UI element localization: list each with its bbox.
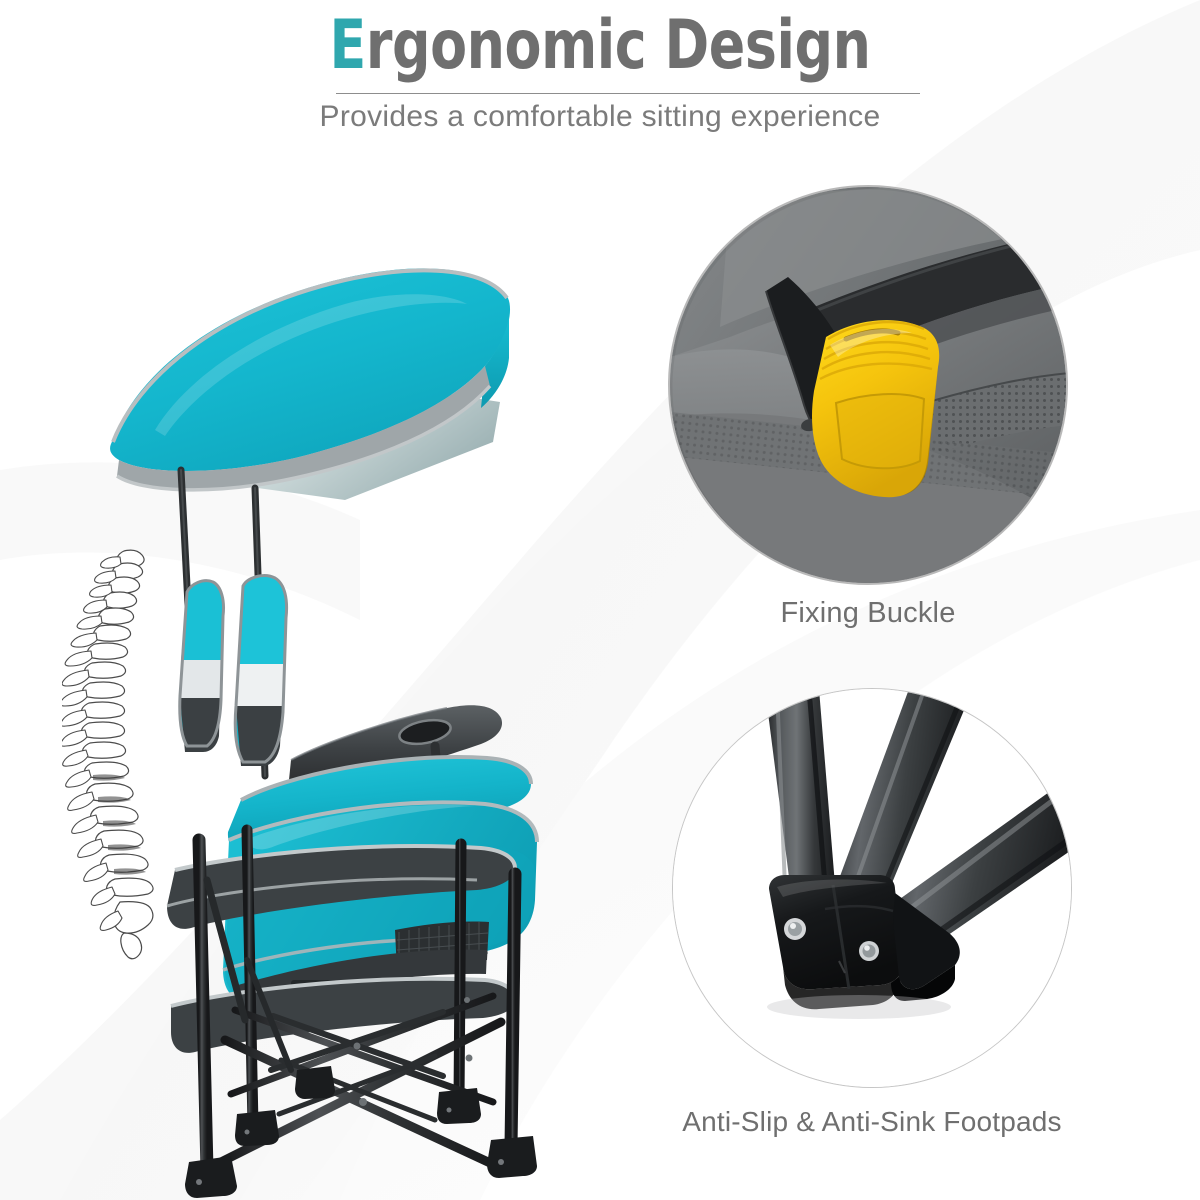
- footpads-photo: [672, 688, 1072, 1088]
- title-divider: [336, 93, 920, 94]
- fixing-buckle-caption: Fixing Buckle: [668, 597, 1068, 630]
- footpads-caption: Anti-Slip & Anti-Sink Footpads: [642, 1106, 1102, 1138]
- fixing-buckle-photo: [668, 185, 1068, 585]
- page-title: Ergonomic Design: [72, 12, 1128, 80]
- page-subtitle: Provides a comfortable sitting experienc…: [0, 100, 1200, 134]
- detail-footpads: Anti-Slip & Anti-Sink Footpads: [672, 688, 1092, 1158]
- page-title-rest: rgonomic Design: [366, 6, 871, 85]
- detail-fixing-buckle: Fixing Buckle: [668, 185, 1088, 645]
- page-title-accent-letter: E: [330, 6, 366, 85]
- header: Ergonomic Design Provides a comfortable …: [0, 0, 1200, 150]
- product-image-chair: [95, 140, 555, 1200]
- infographic-canvas: Ergonomic Design Provides a comfortable …: [0, 0, 1200, 1200]
